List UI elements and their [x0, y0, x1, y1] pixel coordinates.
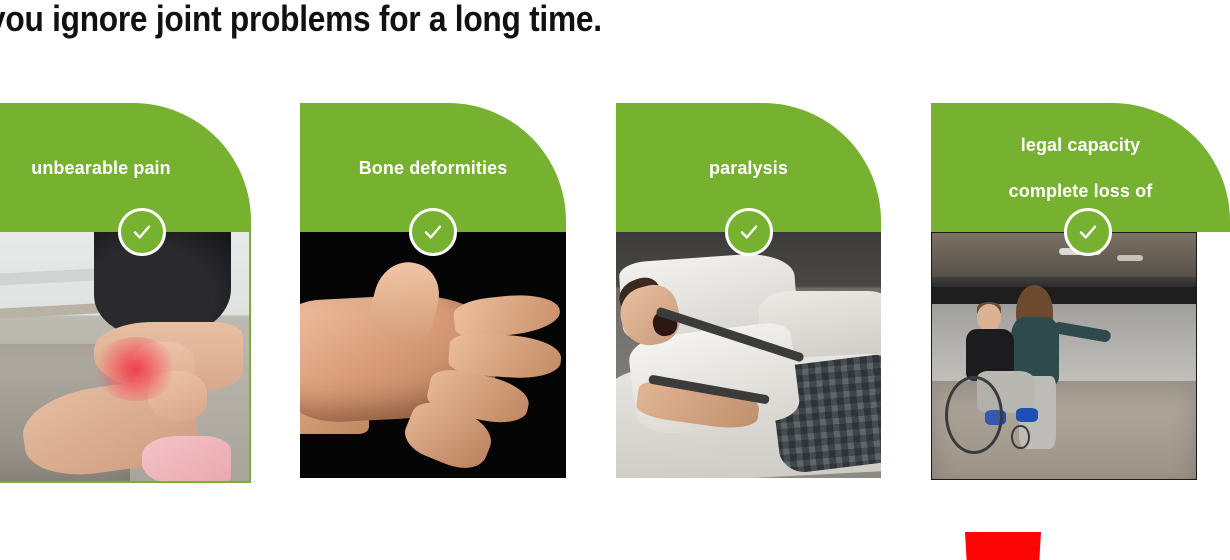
warning-card-paralysis[interactable]: paralysis	[616, 103, 881, 478]
check-circle-icon	[118, 208, 166, 256]
red-banner-shape	[965, 532, 1041, 560]
page-title: you ignore joint problems for a long tim…	[0, 0, 868, 44]
scene-wheelchair	[932, 233, 1196, 479]
card-title: unbearable pain	[31, 147, 171, 189]
card-photo	[931, 232, 1197, 480]
card-photo	[616, 232, 881, 478]
warning-card-legal-capacity[interactable]: legal capacity complete loss of	[931, 103, 1230, 480]
scene-arthritic-hand	[300, 232, 566, 478]
warning-cards-row: unbearable pain Bone deformities	[0, 103, 1230, 483]
warning-card-unbearable-pain[interactable]: unbearable pain	[0, 103, 251, 483]
card-title: legal capacity complete loss of	[1009, 122, 1153, 214]
scene-restrained-patient	[616, 232, 881, 478]
card-title: paralysis	[709, 147, 788, 189]
check-circle-icon	[409, 208, 457, 256]
check-circle-icon	[725, 208, 773, 256]
scene-knee-pain	[0, 232, 249, 481]
card-photo	[0, 232, 251, 483]
page-root: you ignore joint problems for a long tim…	[0, 0, 1230, 560]
card-header: unbearable pain	[0, 103, 251, 232]
card-title: Bone deformities	[359, 147, 508, 189]
check-circle-icon	[1064, 208, 1112, 256]
card-photo	[300, 232, 566, 478]
warning-card-bone-deformities[interactable]: Bone deformities	[300, 103, 566, 478]
